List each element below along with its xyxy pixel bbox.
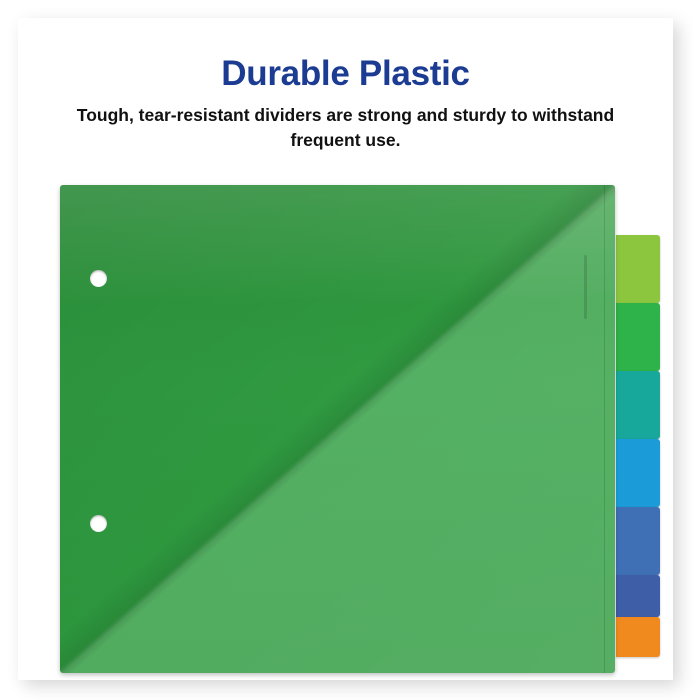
pocket-slit xyxy=(584,255,587,319)
tab-1 xyxy=(616,235,660,303)
tab-6 xyxy=(616,575,660,617)
tab-7 xyxy=(616,617,660,657)
tab-5 xyxy=(616,507,660,575)
binder-hole-top xyxy=(90,270,107,287)
product-photo xyxy=(60,185,660,680)
tab-3 xyxy=(616,371,660,439)
sheet-seam xyxy=(604,185,605,673)
page-subtitle: Tough, tear-resistant dividers are stron… xyxy=(63,103,628,154)
green-pocket-divider xyxy=(60,185,615,673)
tab-4 xyxy=(616,439,660,507)
binder-hole-bottom xyxy=(90,515,107,532)
tab-2 xyxy=(616,303,660,371)
product-card: Durable Plastic Tough, tear-resistant di… xyxy=(18,18,673,680)
screenshot-root: Durable Plastic Tough, tear-resistant di… xyxy=(0,0,700,700)
diagonal-pocket-edge xyxy=(60,185,615,673)
page-title: Durable Plastic xyxy=(18,54,673,94)
product-image-canvas: Durable Plastic Tough, tear-resistant di… xyxy=(0,0,700,700)
